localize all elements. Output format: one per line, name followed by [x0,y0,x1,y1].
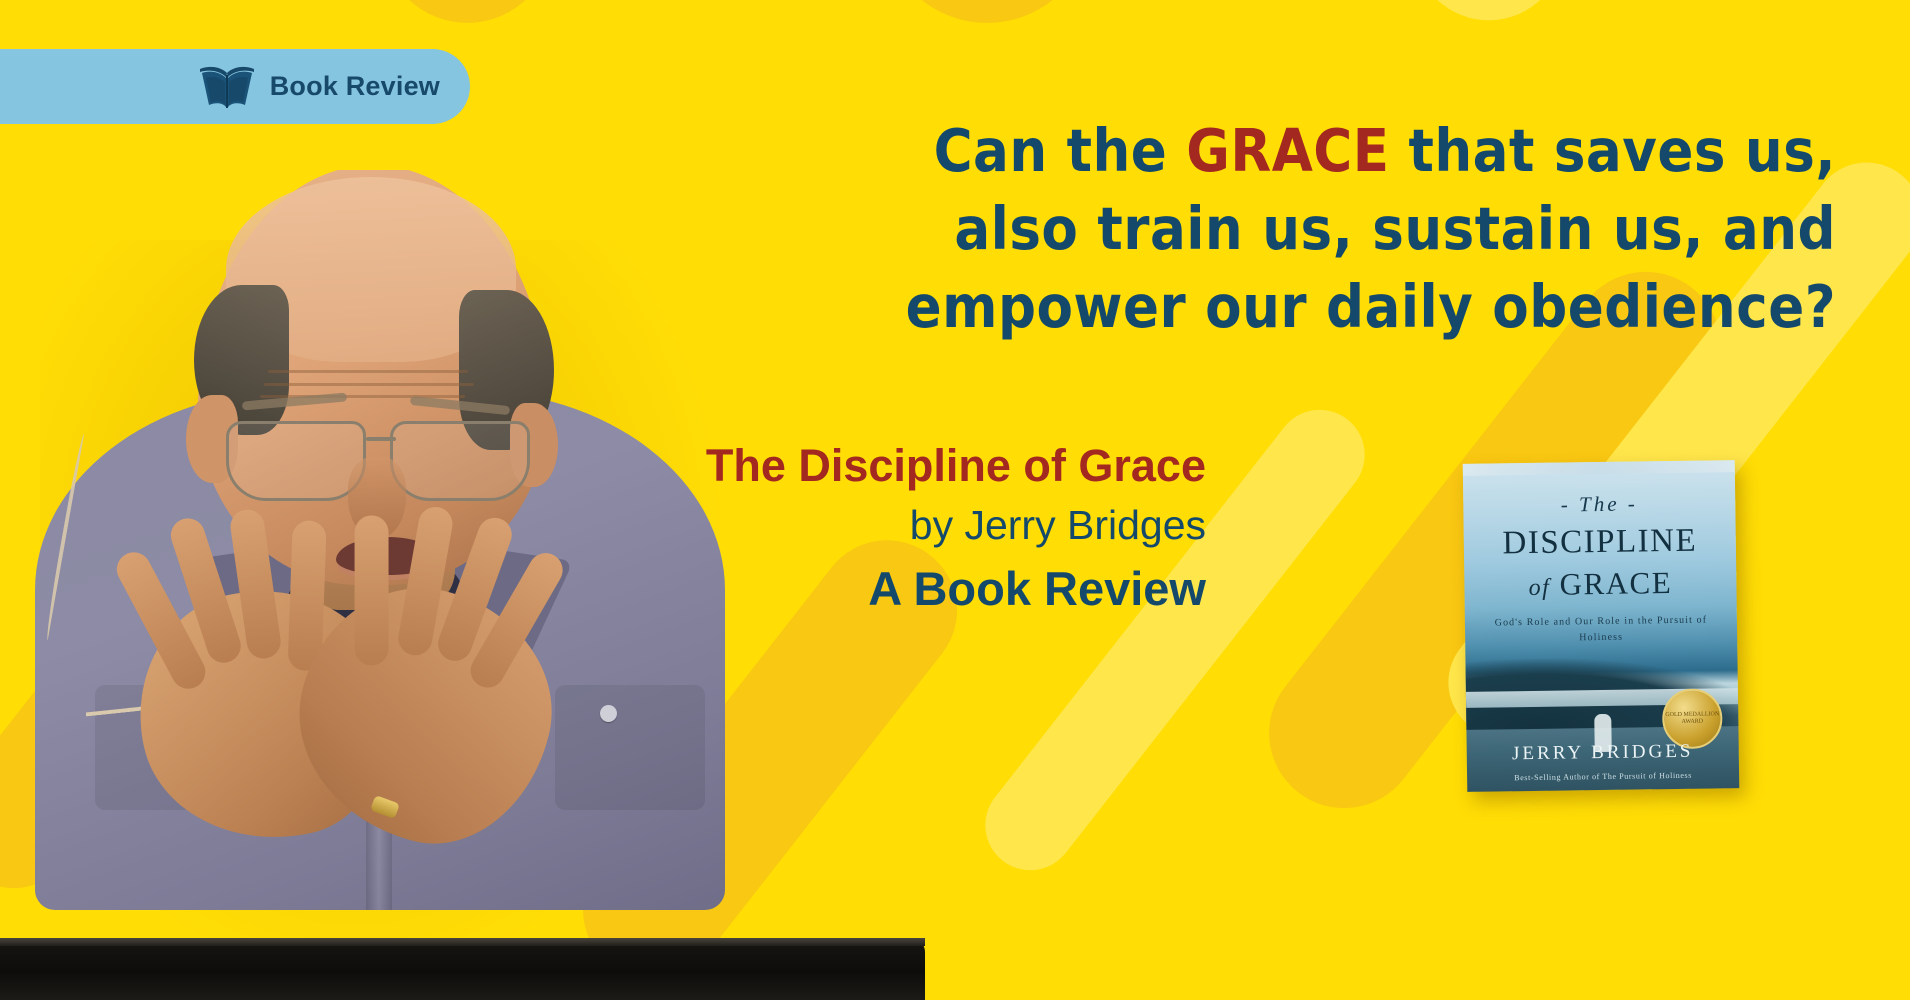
book-cover-image: - The - DISCIPLINE of GRACE God's Role a… [1463,460,1740,792]
headline-highlight-grace: GRACE [1186,116,1389,185]
book-author-byline: by Jerry Bridges [686,502,1206,549]
headline-line-3: empower our daily obedience? [826,268,1836,346]
desk-edge [0,938,925,1000]
shirt-button [600,705,617,722]
forehead-line [264,383,474,386]
promo-banner: Book Review Can the GRACE that saves us,… [0,0,1910,1000]
lens-left [226,421,366,501]
cover-of: of [1529,575,1551,601]
cover-grace: GRACE [1559,565,1672,602]
headline: Can the GRACE that saves us, also train … [826,112,1836,346]
cover-subtitle: God's Role and Our Role in the Pursuit o… [1479,612,1723,646]
open-book-icon [198,65,256,109]
glasses-bridge [366,437,396,441]
badge-label: Book Review [270,71,440,102]
book-title: The Discipline of Grace [686,440,1206,492]
speaker-photo [0,170,760,1000]
review-label: A Book Review [686,561,1206,616]
cover-author: JERRY BRIDGES [1467,740,1739,766]
headline-line-2: also train us, sustain us, and [826,190,1836,268]
forehead-line [268,370,468,373]
book-info-block: The Discipline of Grace by Jerry Bridges… [686,440,1206,616]
cover-the: - The - [1463,490,1735,519]
cover-discipline: DISCIPLINE [1464,522,1736,563]
headline-line-1: Can the GRACE that saves us, [826,112,1836,190]
headline-text-before: Can the [934,116,1187,185]
headline-text-after: that saves us, [1390,116,1836,185]
cover-seal-text: GOLD MEDALLION AWARD [1664,690,1721,747]
book-review-badge: Book Review [0,49,470,124]
cover-of-grace: of GRACE [1464,564,1736,604]
cover-tagline: Best-Selling Author of The Pursuit of Ho… [1477,770,1729,783]
cover-top-band [1463,460,1735,476]
lens-right [390,421,530,501]
shirt-pocket-right [555,685,705,810]
